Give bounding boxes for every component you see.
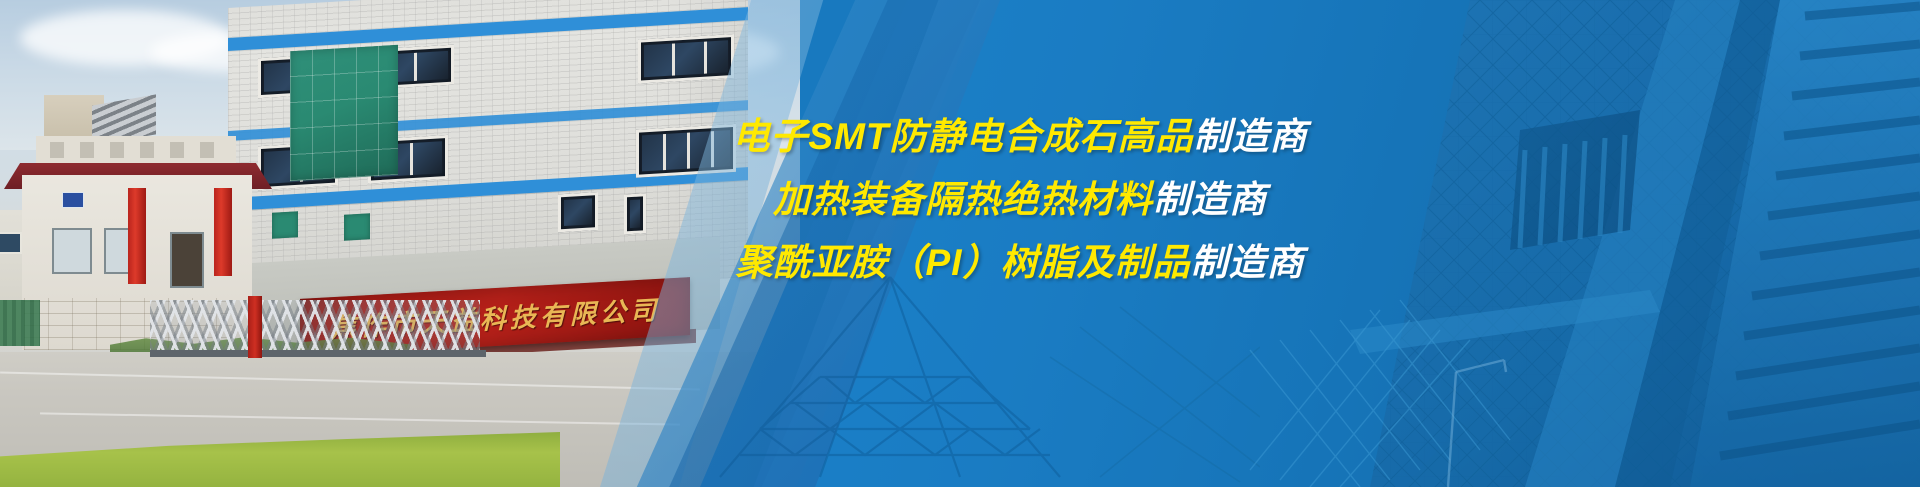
gate-post xyxy=(248,296,262,358)
truss-svg xyxy=(700,267,1260,487)
side-building-window xyxy=(0,232,22,254)
building-window xyxy=(558,192,598,232)
guardhouse-parapet xyxy=(36,136,236,166)
headline-line-3-yellow: 聚酰亚胺（PI）树脂及制品 xyxy=(736,242,1191,283)
headline-line-1-white: 制造商 xyxy=(1194,116,1308,157)
building-window xyxy=(624,193,646,234)
headline-block: 电子SMT防静电合成石高品制造商 加热装备隔热绝热材料制造商 聚酰亚胺（PI）树… xyxy=(690,118,1350,281)
green-fence xyxy=(0,300,40,346)
guardhouse-window xyxy=(52,228,92,274)
guardhouse-plaque xyxy=(62,192,84,208)
headline-line-3-white: 制造商 xyxy=(1190,242,1304,283)
green-glass-panel xyxy=(344,213,370,241)
headline-line-1-yellow: 电子SMT防静电合成石高品 xyxy=(732,116,1193,157)
space-frame-truss-graphic xyxy=(700,267,1260,487)
headline-line-1: 电子SMT防静电合成石高品制造商 xyxy=(690,118,1350,155)
headline-line-3: 聚酰亚胺（PI）树脂及制品制造商 xyxy=(690,244,1350,281)
green-glass-curtain-wall xyxy=(290,45,398,181)
guardhouse-window xyxy=(104,228,130,274)
building-window xyxy=(638,34,734,84)
guardhouse-door xyxy=(170,232,204,288)
headline-line-2-white: 制造商 xyxy=(1153,179,1267,220)
retractable-gate xyxy=(150,300,480,356)
guardhouse-column xyxy=(128,188,146,284)
headline-line-2: 加热装备隔热绝热材料制造商 xyxy=(690,181,1350,218)
green-glass-panel xyxy=(272,211,298,239)
gate-rail xyxy=(150,350,486,357)
hero-banner: 焦作市天益科技有限公司 xyxy=(0,0,1920,487)
guardhouse-column xyxy=(214,188,232,276)
headline-line-2-yellow: 加热装备隔热绝热材料 xyxy=(773,179,1153,220)
